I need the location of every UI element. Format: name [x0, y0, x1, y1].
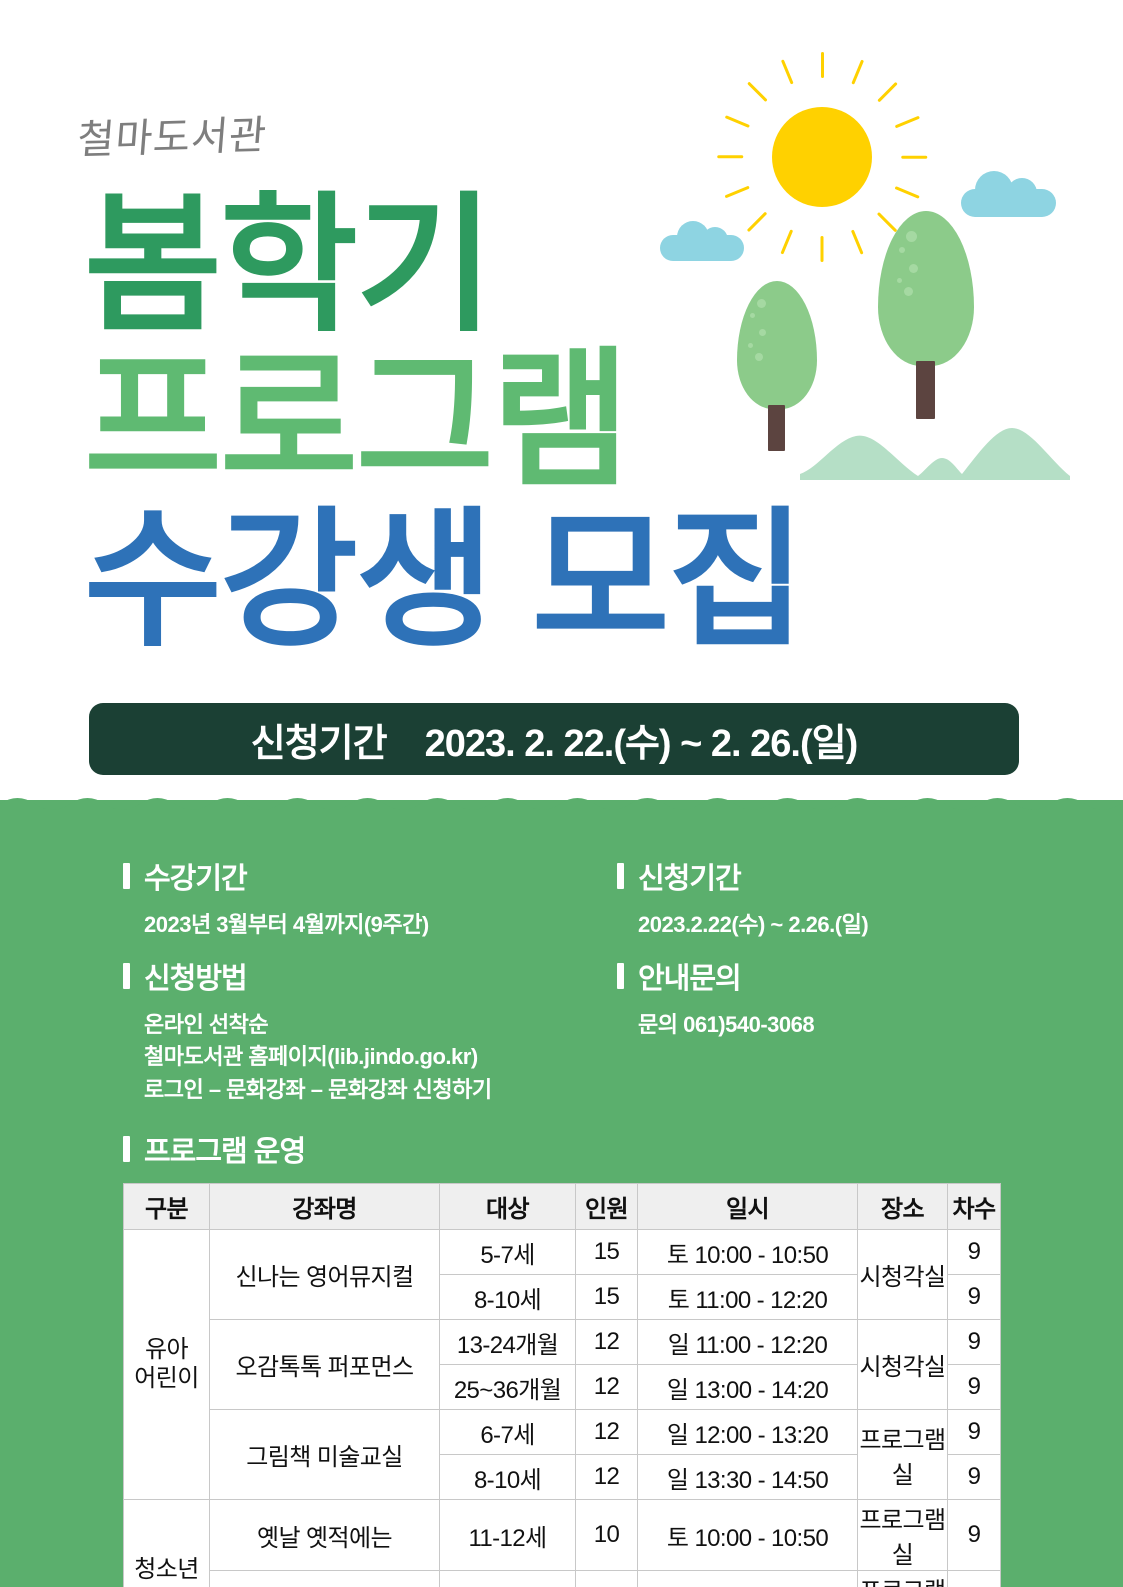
info-block-contact: 안내문의 문의 061)540-3068	[617, 955, 1047, 1041]
bar-marker-icon	[617, 863, 624, 889]
cell-category: 청소년	[124, 1500, 210, 1587]
tree-crown	[737, 281, 817, 409]
method-heading: 신청방법	[123, 955, 613, 997]
banner-label: 신청기간	[251, 712, 387, 767]
cell-times: 9	[948, 1410, 1001, 1455]
cell-target: 5-7세	[440, 1230, 576, 1275]
cell-place: 시청각실	[858, 1230, 948, 1320]
cell-times: 9	[948, 1230, 1001, 1275]
cell-times: 9	[948, 1365, 1001, 1410]
table-row: 청소년옛날 옛적에는11-12세10토 10:00 - 10:50프로그램실9	[124, 1500, 1001, 1571]
method-body: 온라인 선착순 철마도서관 홈페이지(lib.jindo.go.kr) 로그인 …	[123, 1009, 613, 1106]
apply-date-heading: 신청기간	[617, 855, 1047, 897]
cell-target: 13-15세	[440, 1571, 576, 1587]
col-header-count: 인원	[576, 1184, 638, 1230]
col-header-place: 장소	[858, 1184, 948, 1230]
cell-capacity: 12	[576, 1455, 638, 1500]
cell-course-name: 오감톡톡 퍼포먼스	[210, 1320, 440, 1410]
cell-course-name: 그림책 미술교실	[210, 1410, 440, 1500]
table-body: 유아어린이신나는 영어뮤지컬5-7세15토 10:00 - 10:50시청각실9…	[124, 1230, 1001, 1587]
cloud-icon-right	[961, 171, 1056, 217]
table-row: 유아어린이신나는 영어뮤지컬5-7세15토 10:00 - 10:50시청각실9	[124, 1230, 1001, 1275]
period-body: 2023년 3월부터 4월까지(9주간)	[123, 909, 613, 941]
method-line-2: 철마도서관 홈페이지(lib.jindo.go.kr)	[144, 1041, 613, 1073]
cell-times: 9	[948, 1455, 1001, 1500]
col-header-gubun: 구분	[124, 1184, 210, 1230]
method-line-1: 온라인 선착순	[144, 1009, 613, 1041]
col-header-times: 차수	[948, 1184, 1001, 1230]
sun-disc	[772, 107, 872, 207]
info-block-apply-date: 신청기간 2023.2.22(수) ~ 2.26.(일)	[617, 855, 1047, 941]
cell-target: 6-7세	[440, 1410, 576, 1455]
cell-times: 9	[948, 1500, 1001, 1571]
sun-icon	[717, 52, 927, 262]
title-line-1: 봄학기	[84, 190, 492, 340]
cell-capacity: 12	[576, 1365, 638, 1410]
cell-when: 일 13:30 - 14:50	[638, 1455, 858, 1500]
info-block-method: 신청방법 온라인 선착순 철마도서관 홈페이지(lib.jindo.go.kr)…	[123, 955, 613, 1106]
cell-capacity: 15	[576, 1275, 638, 1320]
table-header-row: 구분 강좌명 대상 인원 일시 장소 차수	[124, 1184, 1001, 1230]
program-table: 구분 강좌명 대상 인원 일시 장소 차수 유아어린이신나는 영어뮤지컬5-7세…	[123, 1183, 1001, 1587]
program-heading-text: 프로그램 운영	[144, 1128, 305, 1170]
library-name: 철마도서관	[75, 103, 269, 166]
cell-target: 25~36개월	[440, 1365, 576, 1410]
table-row: 독서풍부 고민타파13-15세10토 11:00 - 11:50프로그램실9	[124, 1571, 1001, 1587]
tree-trunk	[916, 361, 935, 419]
poster-root: 철마도서관 봄학기 프로그램 수강생 모집 신청기간 2023. 2. 22.(…	[0, 0, 1123, 1587]
cell-target: 8-10세	[440, 1275, 576, 1320]
cell-capacity: 12	[576, 1320, 638, 1365]
contact-body: 문의 061)540-3068	[617, 1009, 1047, 1041]
method-heading-text: 신청방법	[144, 955, 247, 997]
contact-heading: 안내문의	[617, 955, 1047, 997]
cell-capacity: 15	[576, 1230, 638, 1275]
banner-value: 2023. 2. 22.(수) ~ 2. 26.(일)	[425, 712, 858, 767]
cell-when: 토 11:00 - 12:20	[638, 1275, 858, 1320]
cell-when: 토 10:00 - 10:50	[638, 1230, 858, 1275]
cell-when: 토 10:00 - 10:50	[638, 1500, 858, 1571]
period-heading-text: 수강기간	[144, 855, 247, 897]
hills-shape	[800, 410, 1070, 480]
bar-marker-icon	[123, 963, 130, 989]
cloud-icon-left	[660, 221, 744, 261]
tree-trunk	[768, 405, 785, 451]
method-line-3: 로그인 – 문화강좌 – 문화강좌 신청하기	[144, 1074, 613, 1106]
tree-crown	[878, 211, 974, 366]
tree-icon-small	[737, 281, 817, 451]
cell-capacity: 10	[576, 1571, 638, 1587]
info-block-period: 수강기간 2023년 3월부터 4월까지(9주간)	[123, 855, 613, 941]
cell-target: 13-24개월	[440, 1320, 576, 1365]
period-heading: 수강기간	[123, 855, 613, 897]
wave-divider	[0, 792, 1123, 826]
title-line-2: 프로그램	[84, 345, 628, 495]
cell-category: 유아어린이	[124, 1230, 210, 1500]
apply-date-body: 2023.2.22(수) ~ 2.26.(일)	[617, 909, 1047, 941]
cell-times: 9	[948, 1275, 1001, 1320]
cell-place: 프로그램실	[858, 1571, 948, 1587]
cell-when: 일 11:00 - 12:20	[638, 1320, 858, 1365]
bar-marker-icon	[617, 963, 624, 989]
cell-place: 프로그램실	[858, 1410, 948, 1500]
tree-icon-big	[878, 211, 974, 419]
col-header-name: 강좌명	[210, 1184, 440, 1230]
application-period-banner: 신청기간 2023. 2. 22.(수) ~ 2. 26.(일)	[89, 703, 1019, 775]
cell-place: 프로그램실	[858, 1500, 948, 1571]
cell-times: 9	[948, 1571, 1001, 1587]
bar-marker-icon	[123, 863, 130, 889]
cell-target: 11-12세	[440, 1500, 576, 1571]
cell-place: 시청각실	[858, 1320, 948, 1410]
cell-target: 8-10세	[440, 1455, 576, 1500]
table-row: 그림책 미술교실6-7세12일 12:00 - 13:20프로그램실9	[124, 1410, 1001, 1455]
cell-course-name: 신나는 영어뮤지컬	[210, 1230, 440, 1320]
cell-capacity: 12	[576, 1410, 638, 1455]
table-row: 오감톡톡 퍼포먼스13-24개월12일 11:00 - 12:20시청각실9	[124, 1320, 1001, 1365]
apply-date-heading-text: 신청기간	[638, 855, 741, 897]
cell-course-name: 독서풍부 고민타파	[210, 1571, 440, 1587]
program-heading: 프로그램 운영	[123, 1128, 1023, 1170]
cell-when: 토 11:00 - 11:50	[638, 1571, 858, 1587]
cell-capacity: 10	[576, 1500, 638, 1571]
info-block-program: 프로그램 운영	[123, 1128, 1023, 1182]
bar-marker-icon	[123, 1136, 130, 1162]
title-line-3: 수강생 모집	[84, 505, 804, 655]
col-header-target: 대상	[440, 1184, 576, 1230]
contact-heading-text: 안내문의	[638, 955, 741, 997]
col-header-when: 일시	[638, 1184, 858, 1230]
program-table-wrapper: 구분 강좌명 대상 인원 일시 장소 차수 유아어린이신나는 영어뮤지컬5-7세…	[123, 1183, 1000, 1587]
cell-times: 9	[948, 1320, 1001, 1365]
cell-course-name: 옛날 옛적에는	[210, 1500, 440, 1571]
cell-when: 일 12:00 - 13:20	[638, 1410, 858, 1455]
cell-when: 일 13:00 - 14:20	[638, 1365, 858, 1410]
